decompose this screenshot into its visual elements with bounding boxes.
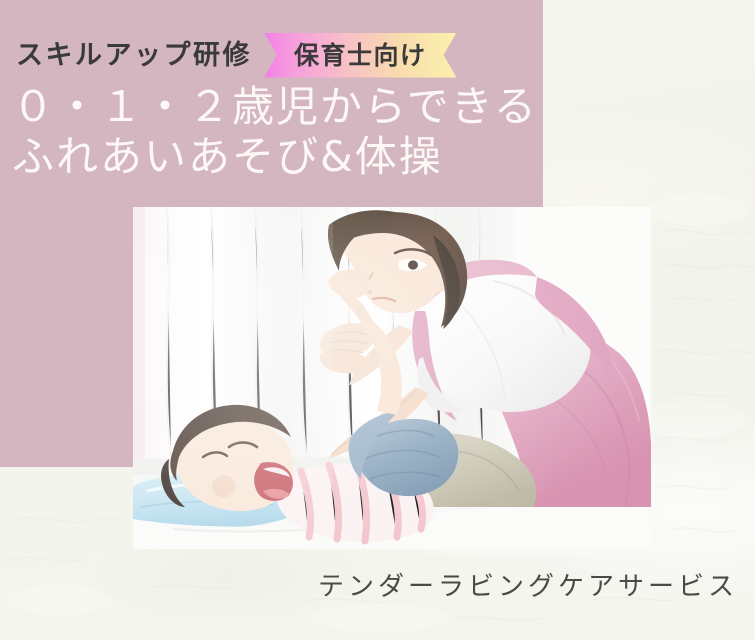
mauve-left-block [0, 207, 133, 467]
brand-name: テンダーラビングケアサービス [0, 566, 738, 603]
headline: ０・１・２歳児からできる ふれあいあそび&体操 [12, 82, 540, 181]
hero-photo [133, 207, 651, 549]
hero-photo-illustration [133, 207, 651, 549]
headline-line-2: ふれあいあそび&体操 [12, 132, 540, 182]
eyebrow-row: スキルアップ研修 保育士向け [16, 31, 546, 79]
headline-line-1: ０・１・２歳児からできる [12, 82, 540, 132]
audience-ribbon-badge: 保育士向け [264, 33, 457, 78]
eyebrow-label: スキルアップ研修 [16, 42, 252, 69]
poster-root: スキルアップ研修 保育士向け ０・１・２歳児からできる ふれあいあそび&体操 [0, 0, 755, 640]
audience-ribbon-label: 保育士向け [294, 43, 427, 68]
